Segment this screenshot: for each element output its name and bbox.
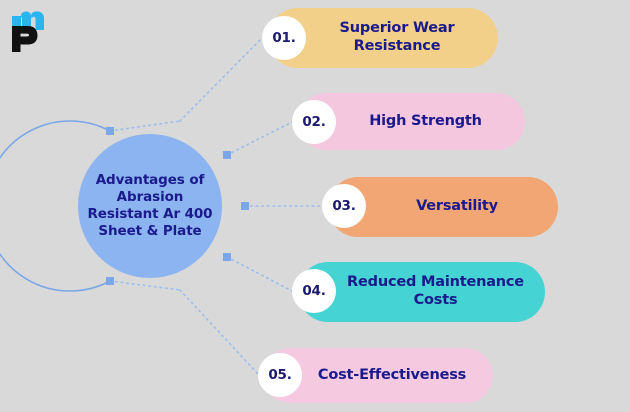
hub-circle: Advantages of Abrasion Resistant Ar 400 … — [78, 134, 222, 278]
connector-node-3 — [241, 202, 249, 210]
item-label-05: Cost-Effectiveness — [280, 367, 476, 385]
item-badge-02[interactable]: 02. — [292, 100, 336, 144]
connector-line-5 — [180, 290, 258, 374]
item-badge-05[interactable]: 05. — [258, 353, 302, 397]
connector-line-2 — [227, 122, 292, 155]
infographic-canvas: Advantages of Abrasion Resistant Ar 400 … — [0, 0, 630, 412]
connector-node-2 — [223, 151, 231, 159]
hub-title: Advantages of Abrasion Resistant Ar 400 … — [84, 172, 216, 240]
connector-line-stub-5 — [110, 281, 180, 290]
connector-node-1 — [106, 127, 114, 135]
item-badge-03[interactable]: 03. — [322, 184, 366, 228]
connector-node-5 — [106, 277, 114, 285]
item-label-03: Versatility — [378, 198, 508, 216]
connector-line-4 — [227, 257, 292, 291]
connector-node-4 — [223, 253, 231, 261]
connector-line-stub-1 — [110, 121, 180, 131]
item-badge-01[interactable]: 01. — [262, 16, 306, 60]
item-badge-04[interactable]: 04. — [292, 269, 336, 313]
connector-line-1 — [180, 38, 262, 121]
item-label-02: High Strength — [331, 113, 492, 131]
